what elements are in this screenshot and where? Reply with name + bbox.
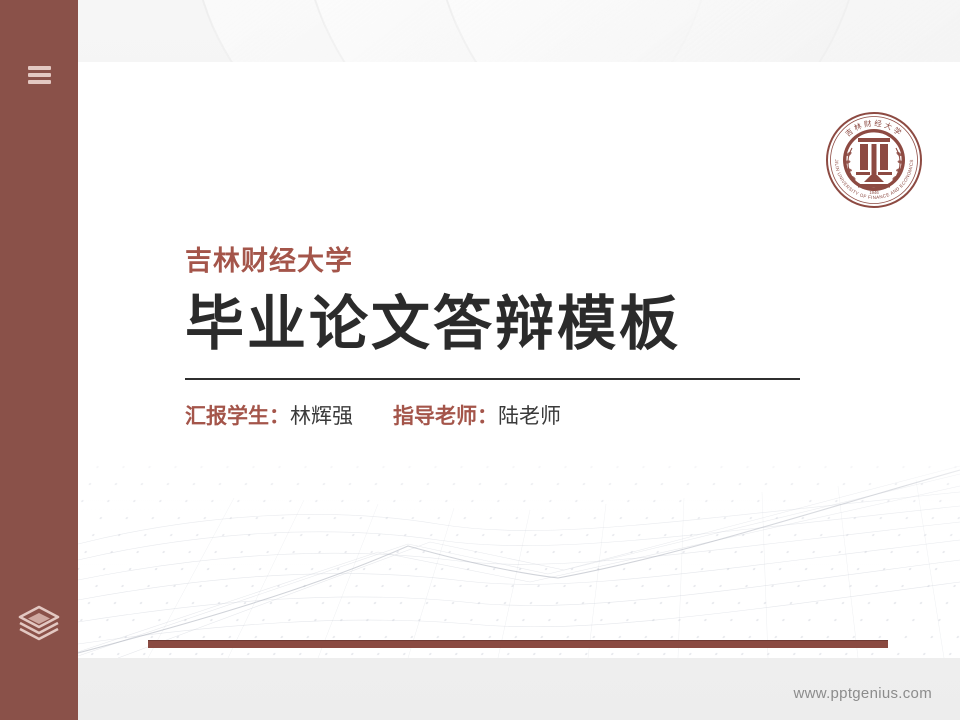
university-name: 吉林财经大学 [185,247,825,277]
presentation-slide: 吉林财经大学 JILIN UNIVERSITY OF FINANCE AND E… [0,0,960,720]
layers-button[interactable] [0,600,78,644]
slide-card: 吉林财经大学 JILIN UNIVERSITY OF FINANCE AND E… [78,62,960,658]
layers-stack-icon [17,603,61,641]
bottom-accent-bar [148,640,888,648]
menu-button[interactable] [0,58,78,92]
hamburger-menu-icon [28,63,51,87]
byline: 汇报学生：林辉强指导老师：陆老师 [185,404,825,429]
title-block: 吉林财经大学 毕业论文答辩模板 汇报学生：林辉强指导老师：陆老师 [185,247,825,430]
seal-year-text: 1946 [869,190,879,195]
presenter-label: 汇报学生： [185,405,290,428]
page-title: 毕业论文答辩模板 [185,293,825,357]
presenter-name: 林辉强 [290,405,353,428]
footer-url: www.pptgenius.com [794,685,933,702]
university-seal-logo: 吉林财经大学 JILIN UNIVERSITY OF FINANCE AND E… [818,104,930,216]
left-sidebar [0,0,78,720]
advisor-name: 陆老师 [498,405,561,428]
advisor-label: 指导老师： [393,405,498,428]
wireframe-mesh-graphic [78,448,960,658]
title-divider [185,378,800,380]
